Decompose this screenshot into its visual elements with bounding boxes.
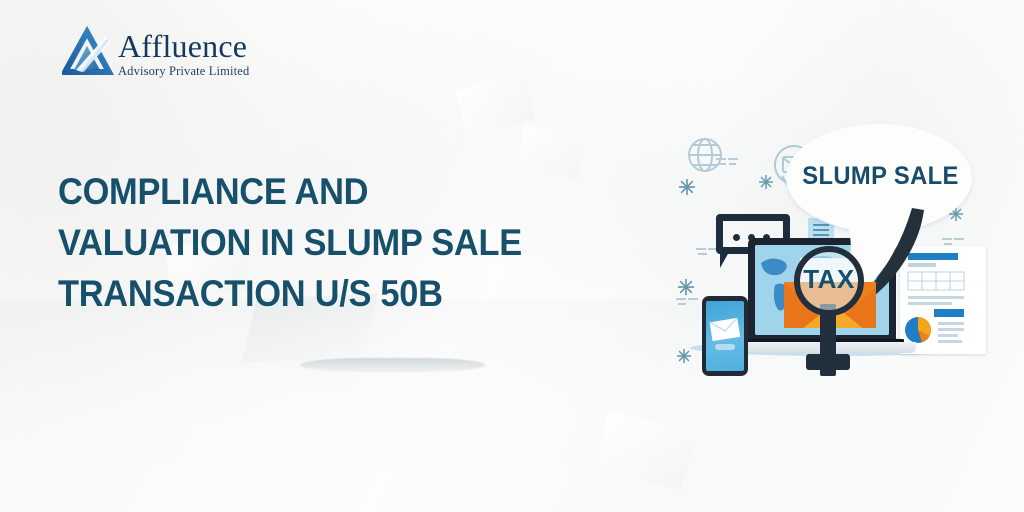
- globe-icon: [682, 132, 728, 178]
- tiny-text-decoration: [676, 298, 700, 310]
- asterisk-sparkle-icon: [758, 174, 774, 190]
- smartphone-with-envelope: [702, 296, 748, 376]
- tiny-text-decoration: [716, 158, 740, 170]
- speech-bubble-label: SLUMP SALE: [802, 162, 959, 191]
- chat-bubble-tail: [720, 252, 729, 268]
- logo-company-name: Affluence: [118, 29, 249, 63]
- background-ghost-laptop: [300, 358, 485, 372]
- asterisk-sparkle-icon: [676, 348, 692, 364]
- logo-tagline: Advisory Private Limited: [118, 64, 249, 78]
- asterisk-sparkle-icon: [678, 178, 696, 196]
- page-title: COMPLIANCE AND VALUATION IN SLUMP SALE T…: [58, 166, 542, 319]
- asterisk-sparkle-icon: [677, 278, 695, 296]
- chat-dot: [733, 234, 740, 241]
- envelope-tax-label: TAX: [794, 264, 864, 295]
- banner-root: Affluence Advisory Private Limited COMPL…: [0, 0, 1024, 512]
- magnifier-grip: [806, 354, 850, 370]
- logo-text-group: Affluence Advisory Private Limited: [118, 26, 249, 78]
- background-ghost-paper: [594, 410, 696, 490]
- phone-screen: [706, 301, 744, 371]
- affluence-triangle-logo-icon: [62, 26, 114, 78]
- slump-sale-tax-illustration: SLUMP SALE TAX: [668, 118, 1008, 380]
- logo[interactable]: Affluence Advisory Private Limited: [62, 26, 249, 78]
